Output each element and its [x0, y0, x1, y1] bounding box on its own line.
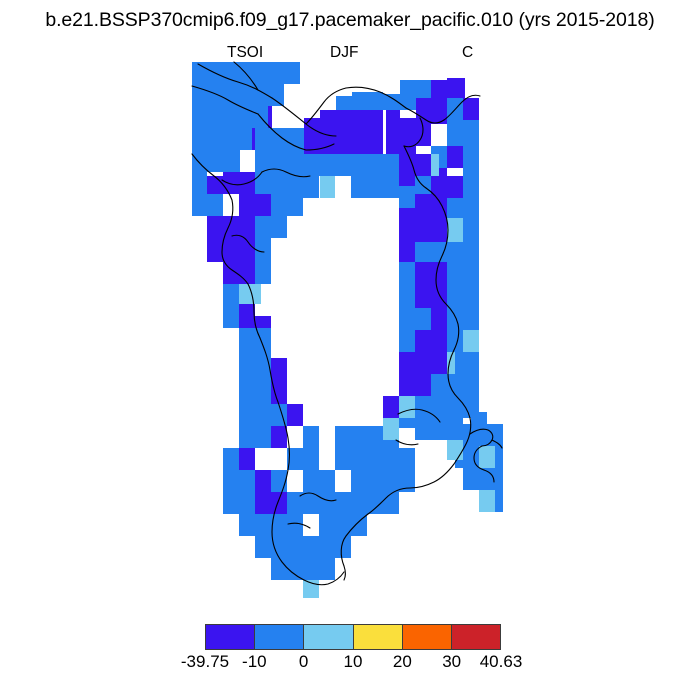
colorbar-tick-labels: -39.75 -10 0 10 20 30 40.63 [205, 652, 501, 674]
colorbar-tick-2: 0 [299, 652, 308, 672]
colorbar [205, 624, 501, 650]
colorbar-tick-3: 10 [344, 652, 363, 672]
colorbar-tick-5: 30 [442, 652, 461, 672]
colorbar-segment-1 [255, 625, 304, 649]
colorbar-tick-1: -10 [242, 652, 267, 672]
colorbar-strip [205, 624, 501, 650]
colorbar-segment-3 [354, 625, 403, 649]
map-plot-area [0, 58, 700, 598]
colorbar-segment-4 [403, 625, 452, 649]
colorbar-segment-0 [206, 625, 255, 649]
colorbar-segment-5 [452, 625, 500, 649]
colorbar-tick-0: -39.75 [181, 652, 229, 672]
south-america-heatmap [0, 58, 700, 598]
colorbar-tick-6: 40.63 [480, 652, 523, 672]
page-title: b.e21.BSSP370cmip6.f09_g17.pacemaker_pac… [0, 9, 700, 32]
colorbar-tick-4: 20 [393, 652, 412, 672]
plot-page: b.e21.BSSP370cmip6.f09_g17.pacemaker_pac… [0, 0, 700, 700]
colorbar-segment-2 [304, 625, 353, 649]
